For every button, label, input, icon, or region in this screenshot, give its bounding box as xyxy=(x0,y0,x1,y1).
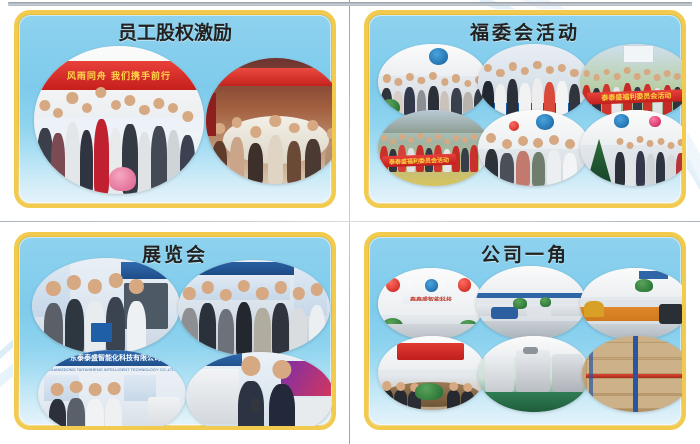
photo-company-lobby-group-photo xyxy=(378,44,488,120)
photo-collection: 泰泰盛智能科技 xyxy=(368,266,682,420)
photo-staff-at-company-booth: 广东泰泰盛智能化科技有限公司 GUANGDONG TAITAISHENG INT… xyxy=(38,350,186,430)
company-culture-collage: 员工股权激励 风雨同舟 我们携手前行 xyxy=(0,0,700,444)
photo-collection: 泰泰盛福利委员会活动 xyxy=(368,44,682,198)
photo-office-cubicles-staff xyxy=(580,268,686,340)
panel-title: 公司一角 xyxy=(368,236,682,266)
panel-title: 福委会活动 xyxy=(368,14,682,44)
photo-reception-lobby-with-logo: 泰泰盛智能科技 xyxy=(378,268,484,340)
photo-group-photo-with-red-banner: 风雨同舟 我们携手前行 xyxy=(34,46,204,194)
horizontal-separator xyxy=(0,221,700,222)
panel-card: 展览会 xyxy=(14,232,336,430)
panel-welfare-committee-activities: 福委会活动 xyxy=(350,0,700,222)
photo-booth-visitors-demo xyxy=(32,258,180,354)
vertical-separator xyxy=(349,0,350,444)
photo-hiking-crowd-with-red-banner: 泰泰盛福利委员会活动 xyxy=(378,110,490,186)
panel-employee-equity-incentive: 员工股权激励 风雨同舟 我们携手前行 xyxy=(0,0,350,222)
photo-meeting-room-with-slogan-banner xyxy=(378,336,486,410)
photo-open-plan-office xyxy=(476,266,586,340)
photo-banquet-round-table-meeting xyxy=(206,58,336,184)
top-frame-bar xyxy=(8,2,692,6)
photo-production-machines-workshop xyxy=(478,336,590,412)
panel-card: 公司一角 泰泰盛智能科技 xyxy=(364,232,686,430)
photo-table-tennis-team-photo xyxy=(478,44,590,120)
panel-card: 福委会活动 xyxy=(364,10,686,208)
panel-card: 员工股权激励 风雨同舟 我们携手前行 xyxy=(14,10,336,208)
photo-outdoor-group-with-red-banner: 泰泰盛福利委员会活动 xyxy=(580,44,686,120)
photo-christmas-tree-staff-photo xyxy=(580,110,686,186)
panel-company-corner: 公司一角 泰泰盛智能科技 xyxy=(350,222,700,444)
photo-interview-at-booth xyxy=(186,352,334,430)
photo-warehouse-storage-shelves xyxy=(582,336,686,412)
photo-trade-show-crowded-aisle xyxy=(178,260,330,356)
panel-grid: 员工股权激励 风雨同舟 我们携手前行 xyxy=(0,0,700,444)
photo-collection: 广东泰泰盛智能化科技有限公司 GUANGDONG TAITAISHENG INT… xyxy=(18,266,332,420)
photo-collection: 风雨同舟 我们携手前行 xyxy=(18,44,332,198)
panel-title: 员工股权激励 xyxy=(18,14,332,44)
photo-award-ceremony-handshake xyxy=(478,110,590,186)
panel-exhibitions: 展览会 xyxy=(0,222,350,444)
panel-title: 展览会 xyxy=(18,236,332,266)
